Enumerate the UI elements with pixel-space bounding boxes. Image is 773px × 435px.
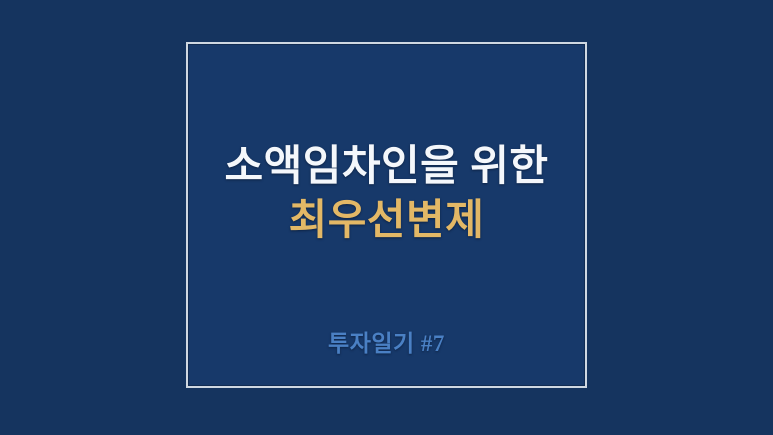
title-slide: 소액임차인을 위한 최우선변제 투자일기 #7 [0,0,773,435]
content-frame: 소액임차인을 위한 최우선변제 투자일기 #7 [186,42,587,388]
title-block: 소액임차인을 위한 최우선변제 [188,144,585,246]
subtitle-series-label: 투자일기 #7 [188,324,585,358]
title-line-accent: 최우선변제 [188,198,585,246]
title-line-primary: 소액임차인을 위한 [188,144,585,192]
